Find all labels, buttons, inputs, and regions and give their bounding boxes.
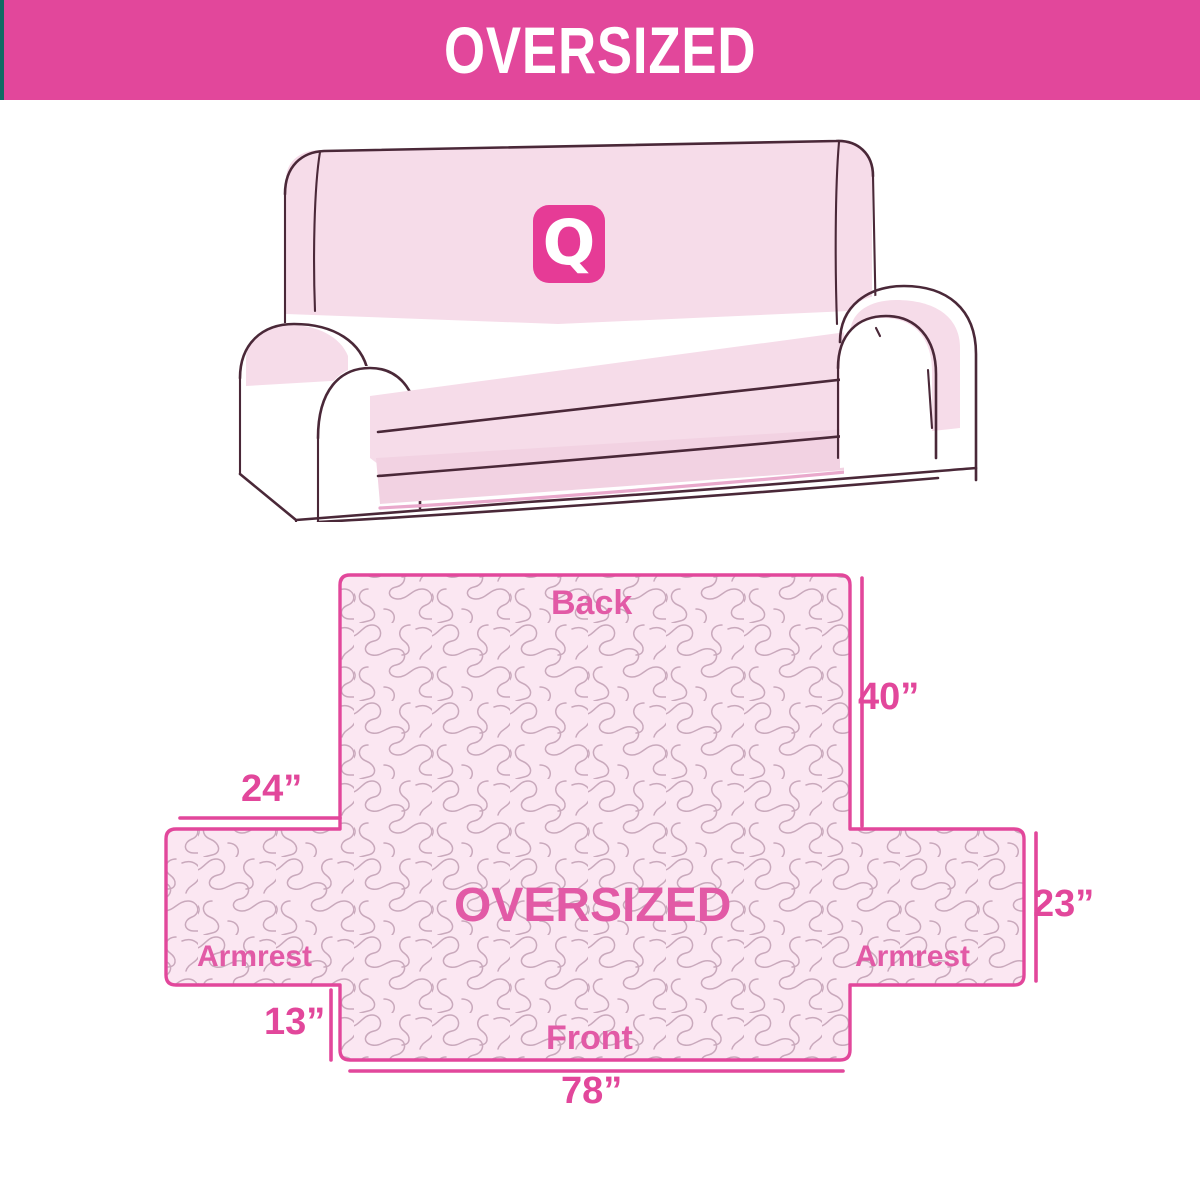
dimension-label-front-skirt-height: 13” [264,1003,325,1041]
header-edge-strip [0,0,4,100]
diagram-label-back: Back [551,586,632,620]
diagram-label-size-name: OVERSIZED [454,882,731,930]
dimension-label-armrest-height: 23” [1033,885,1094,923]
diagram-label-front: Front [546,1021,633,1055]
dimension-label-front-width: 78” [561,1072,622,1110]
brand-logo-letter: Q [543,212,596,274]
diagram-label-armrest-left: Armrest [197,942,312,972]
header-banner: OVERSIZED [0,0,1200,100]
brand-logo-badge: Q [533,205,605,283]
page-title: OVERSIZED [444,17,756,83]
dimension-label-back-height: 40” [858,678,919,716]
sofa-illustration: .ln { fill:none; stroke:#4a2838; stroke-… [228,128,992,522]
dimension-label-armrest-width: 24” [241,770,302,808]
diagram-label-armrest-right: Armrest [855,942,970,972]
